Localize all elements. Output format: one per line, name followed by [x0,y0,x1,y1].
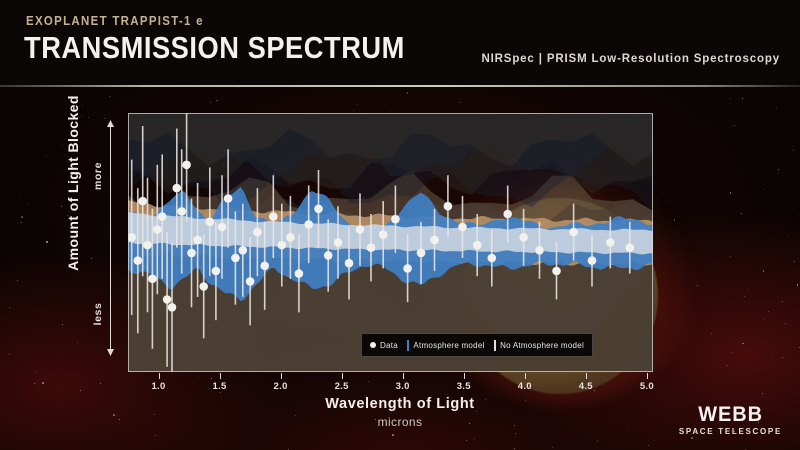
legend-bar-icon [407,340,410,351]
x-tick-label: 3.0 [396,381,410,392]
figure-canvas: EXOPLANET TRAPPIST-1 e TRANSMISSION SPEC… [0,0,800,450]
x-tick [647,373,648,379]
webb-logo: WEBB SPACE TELESCOPE [679,404,782,436]
x-tick [281,373,282,379]
x-tick [586,373,587,379]
x-tick-label: 1.0 [151,381,165,392]
x-tick [342,373,343,379]
x-tick [525,373,526,379]
webb-logo-word: WEBB [681,404,779,426]
x-tick-label: 4.0 [518,381,532,392]
chart-legend[interactable]: DataAtmosphere modelNo Atmosphere model [361,333,593,357]
legend-item[interactable]: No Atmosphere model [494,340,584,351]
webb-logo-subtitle: SPACE TELESCOPE [679,427,782,436]
y-axis-title: Amount of Light Blocked [65,83,81,283]
legend-bar-icon [494,340,497,351]
x-tick-label: 1.5 [213,381,227,392]
y-axis-arrows [103,120,119,360]
x-tick [159,373,160,379]
x-tick-label: 3.5 [457,381,471,392]
x-tick-label: 2.5 [335,381,349,392]
y-axis-less-label: less [92,294,104,334]
legend-label: No Atmosphere model [500,341,584,350]
eyebrow-label: EXOPLANET TRAPPIST-1 e [26,14,204,28]
legend-item[interactable]: Data [370,341,398,350]
x-tick-label: 5.0 [640,381,654,392]
x-tick-label: 4.5 [579,381,593,392]
x-tick [220,373,221,379]
x-tick-label: 2.0 [274,381,288,392]
legend-dot-icon [370,342,376,348]
x-tick [403,373,404,379]
header-divider [0,85,800,87]
legend-item[interactable]: Atmosphere model [407,340,485,351]
legend-label: Data [380,341,398,350]
instrument-label: NIRSpec | PRISM Low-Resolution Spectrosc… [481,53,780,65]
x-tick [464,373,465,379]
y-axis-more-label: more [92,156,104,196]
page-title: TRANSMISSION SPECTRUM [24,31,405,65]
header-bar: EXOPLANET TRAPPIST-1 e TRANSMISSION SPEC… [0,0,800,85]
legend-label: Atmosphere model [413,341,484,350]
